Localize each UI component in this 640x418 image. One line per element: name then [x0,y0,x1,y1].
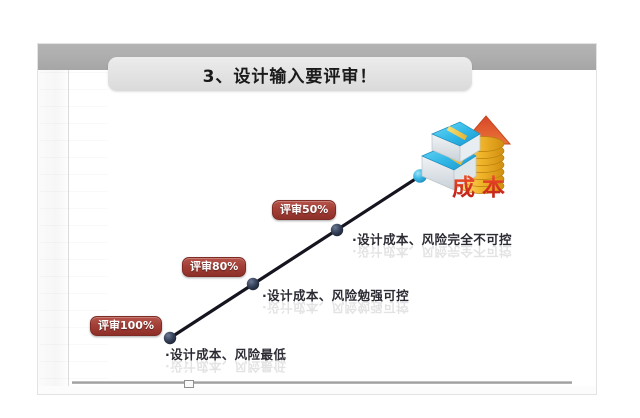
badge-review-100[interactable]: 评审100% [90,316,162,336]
divider-handle[interactable] [184,380,194,388]
caption-lowest-cost: ·设计成本、风险最低 [165,344,286,363]
caption-barely-controllable: ·设计成本、风险勉强可控 [262,285,409,304]
chart-point-marker[interactable] [164,332,176,344]
caption-uncontrollable: ·设计成本、风险完全不可控 [352,229,512,248]
chart-point-marker[interactable] [247,278,259,290]
cost-label: 成本 [452,168,512,202]
bottom-divider [72,380,572,385]
chart-point-marker[interactable] [331,224,343,236]
badge-review-80[interactable]: 评审80% [182,257,246,277]
divider-bar [72,381,572,384]
slide-footer-area [38,386,596,394]
badge-review-50[interactable]: 评审50% [272,200,336,220]
